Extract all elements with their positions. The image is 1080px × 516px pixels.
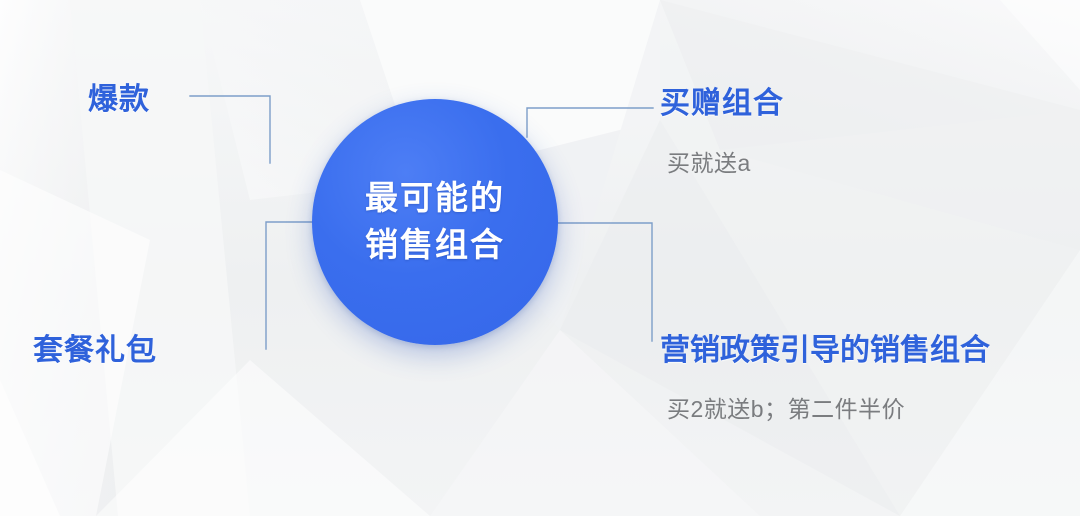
- connector-yingxiao: [556, 223, 652, 341]
- connector-maizeng: [527, 108, 653, 137]
- node-label-baokuan[interactable]: 爆款: [88, 74, 150, 118]
- connector-taocan: [266, 222, 315, 349]
- slide-canvas: 最可能的 销售组合 爆款 套餐礼包 买赠组合 买就送a 营销政策引导的销售组合 …: [0, 0, 1080, 516]
- center-node-line-1: 最可能的: [365, 175, 505, 222]
- node-label-yingxiao[interactable]: 营销政策引导的销售组合: [660, 325, 990, 369]
- node-label-maizeng[interactable]: 买赠组合: [660, 78, 784, 122]
- node-subtitle-yingxiao: 买2就送b；第二件半价: [667, 390, 905, 424]
- center-node-line-2: 销售组合: [365, 222, 505, 269]
- center-node-circle[interactable]: 最可能的 销售组合: [312, 99, 558, 345]
- node-subtitle-maizeng: 买就送a: [667, 144, 751, 178]
- connector-baokuan: [190, 96, 270, 163]
- node-label-taocan[interactable]: 套餐礼包: [33, 325, 157, 369]
